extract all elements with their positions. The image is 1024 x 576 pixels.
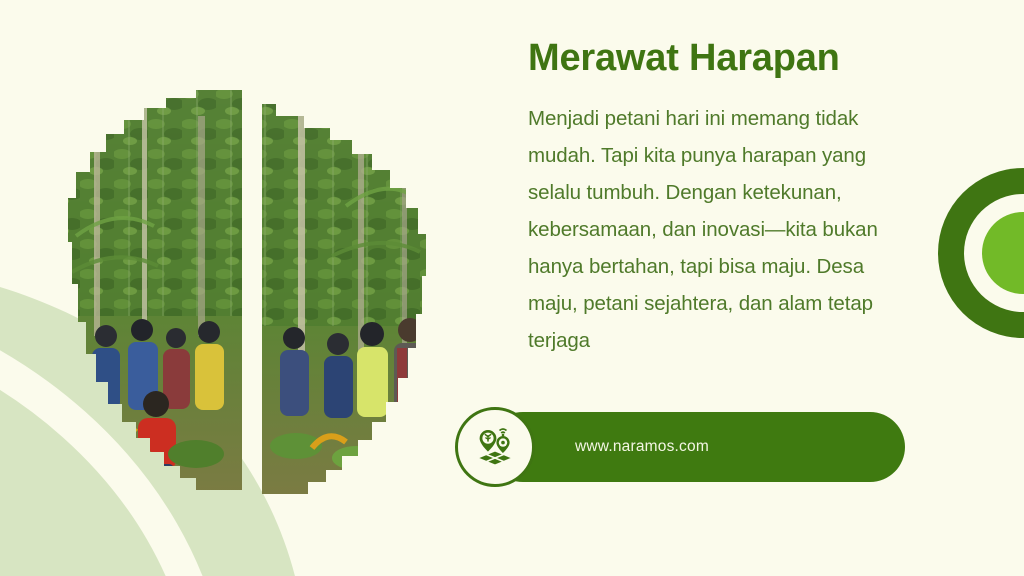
website-url-text[interactable]: www.naramos.com <box>575 412 709 482</box>
ring-gap <box>964 194 1024 312</box>
body-paragraph: Menjadi petani hari ini memang tidak mud… <box>528 100 913 359</box>
slide-canvas: Merawat Harapan Menjadi petani hari ini … <box>0 0 1024 576</box>
naramos-map-pin-logo-icon <box>472 424 518 470</box>
ring-outer <box>938 168 1024 338</box>
content-column: Merawat Harapan Menjadi petani hari ini … <box>528 38 928 359</box>
decorative-rings <box>938 168 1024 338</box>
website-bar[interactable]: www.naramos.com <box>455 412 905 482</box>
page-title: Merawat Harapan <box>528 38 928 80</box>
ring-inner <box>982 212 1024 294</box>
photo-leaf-collage <box>46 86 474 494</box>
brand-logo-badge <box>455 407 535 487</box>
